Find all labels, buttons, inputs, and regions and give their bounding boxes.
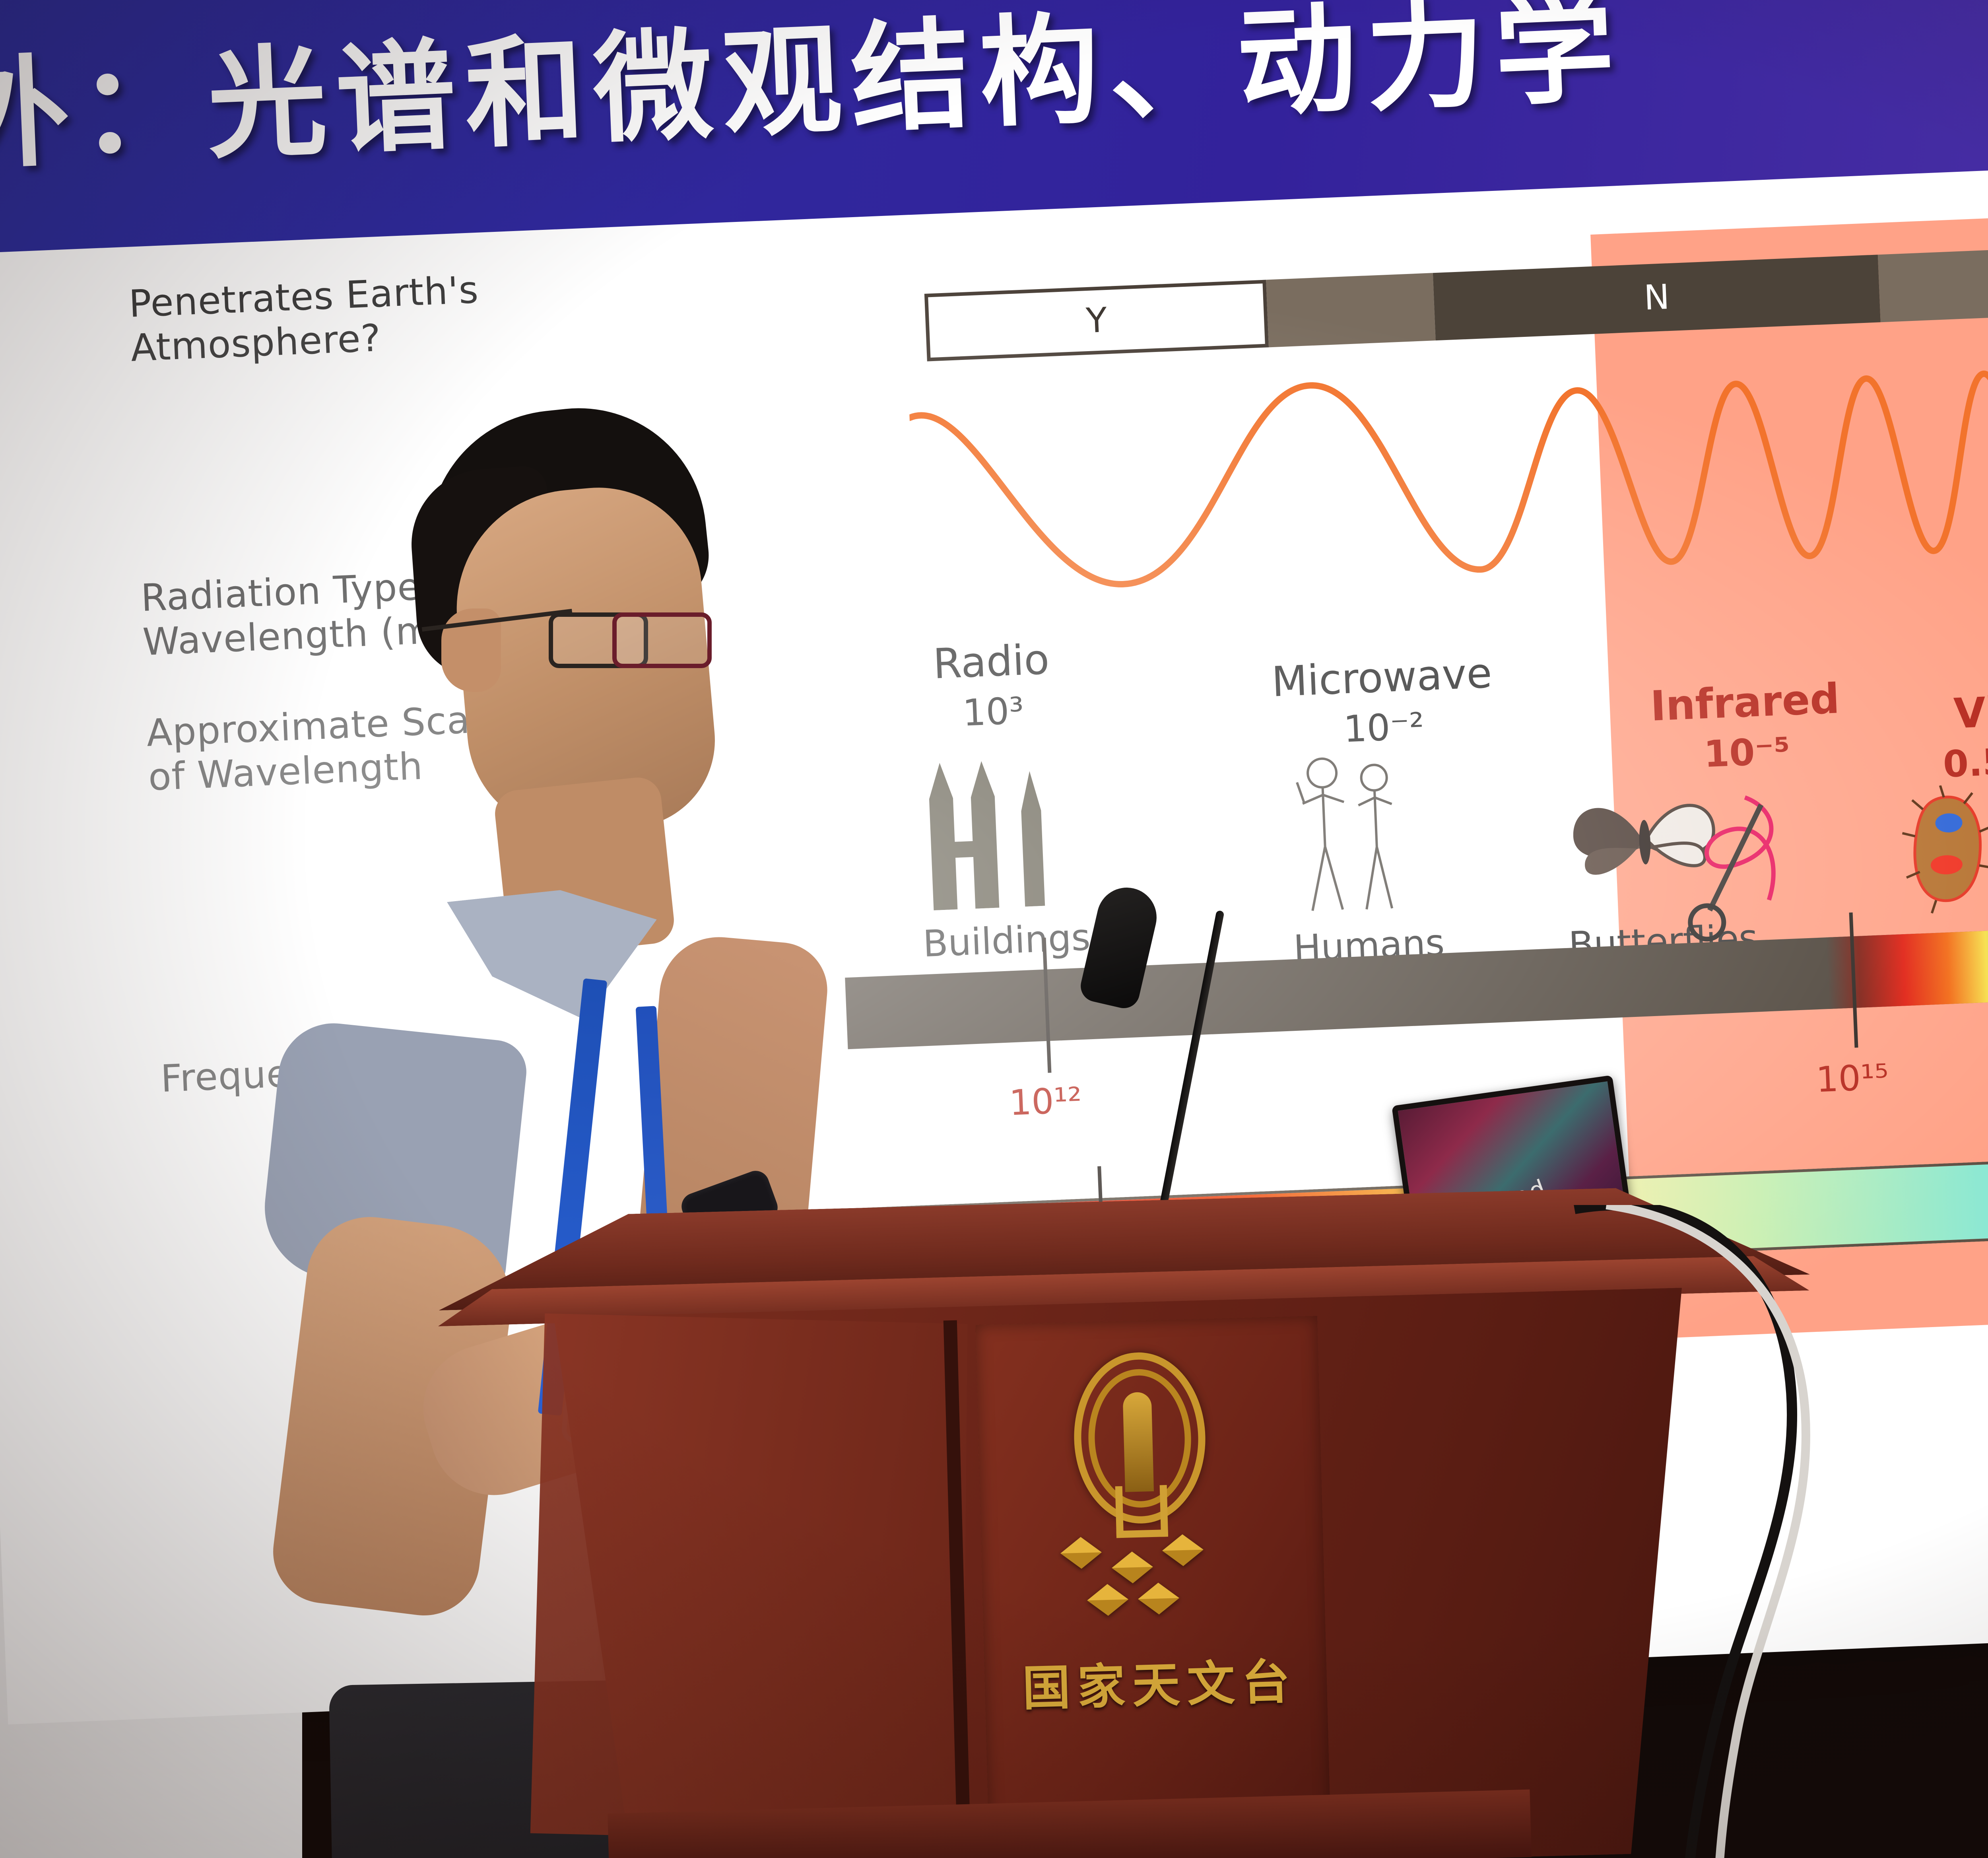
type-visible: Visible 0.5×10⁻⁶ xyxy=(1888,680,1988,788)
emblem-star xyxy=(1111,1551,1153,1568)
emblem-char: 天 xyxy=(1131,1646,1181,1716)
penetration-segment-mid2 xyxy=(1878,249,1988,323)
humans-icon: Humans xyxy=(1258,749,1472,948)
podium-left-panel xyxy=(498,1302,981,1855)
penetration-segment-y1: Y xyxy=(924,280,1269,361)
emblem-pillar xyxy=(1123,1392,1154,1492)
emblem-char: 家 xyxy=(1076,1647,1126,1718)
glasses-icon xyxy=(549,601,720,672)
buildings-icon: Buildings xyxy=(899,744,1106,951)
emblem-star xyxy=(1087,1584,1128,1601)
emblem-star xyxy=(1138,1582,1179,1599)
emblem-char: 台 xyxy=(1241,1643,1291,1713)
emblem-char: 国 xyxy=(1021,1649,1071,1719)
emblem-base xyxy=(1115,1485,1168,1538)
photo-scene: 外：光谱和微观结构、动力学 Penetrates Earth's Atmosph… xyxy=(0,0,1988,1858)
type-microwave: Microwave 10⁻² xyxy=(1230,647,1536,755)
podium-emblem: 国 家 天 文 台 xyxy=(1012,1341,1294,1793)
glasses-lens-right xyxy=(612,612,712,668)
type-infrared: Infrared 10⁻⁵ xyxy=(1621,673,1871,779)
penetration-segment-mid1 xyxy=(1266,273,1436,347)
cables xyxy=(1551,1205,1988,1858)
slide-title: 外：光谱和微观结构、动力学 xyxy=(0,0,1627,193)
frequency-tick-label: 10¹² xyxy=(1008,1079,1083,1123)
emblem-char: 文 xyxy=(1186,1644,1236,1715)
emblem-star xyxy=(1162,1534,1204,1551)
frequency-tick-label: 10¹⁵ xyxy=(1815,1056,1890,1100)
emblem-star xyxy=(1060,1536,1102,1553)
icon-caption: Buildings xyxy=(907,915,1107,966)
emblem-characters: 国 家 天 文 台 xyxy=(1044,1644,1268,1719)
row-label-penetration: Penetrates Earth's Atmosphere? xyxy=(128,268,481,371)
